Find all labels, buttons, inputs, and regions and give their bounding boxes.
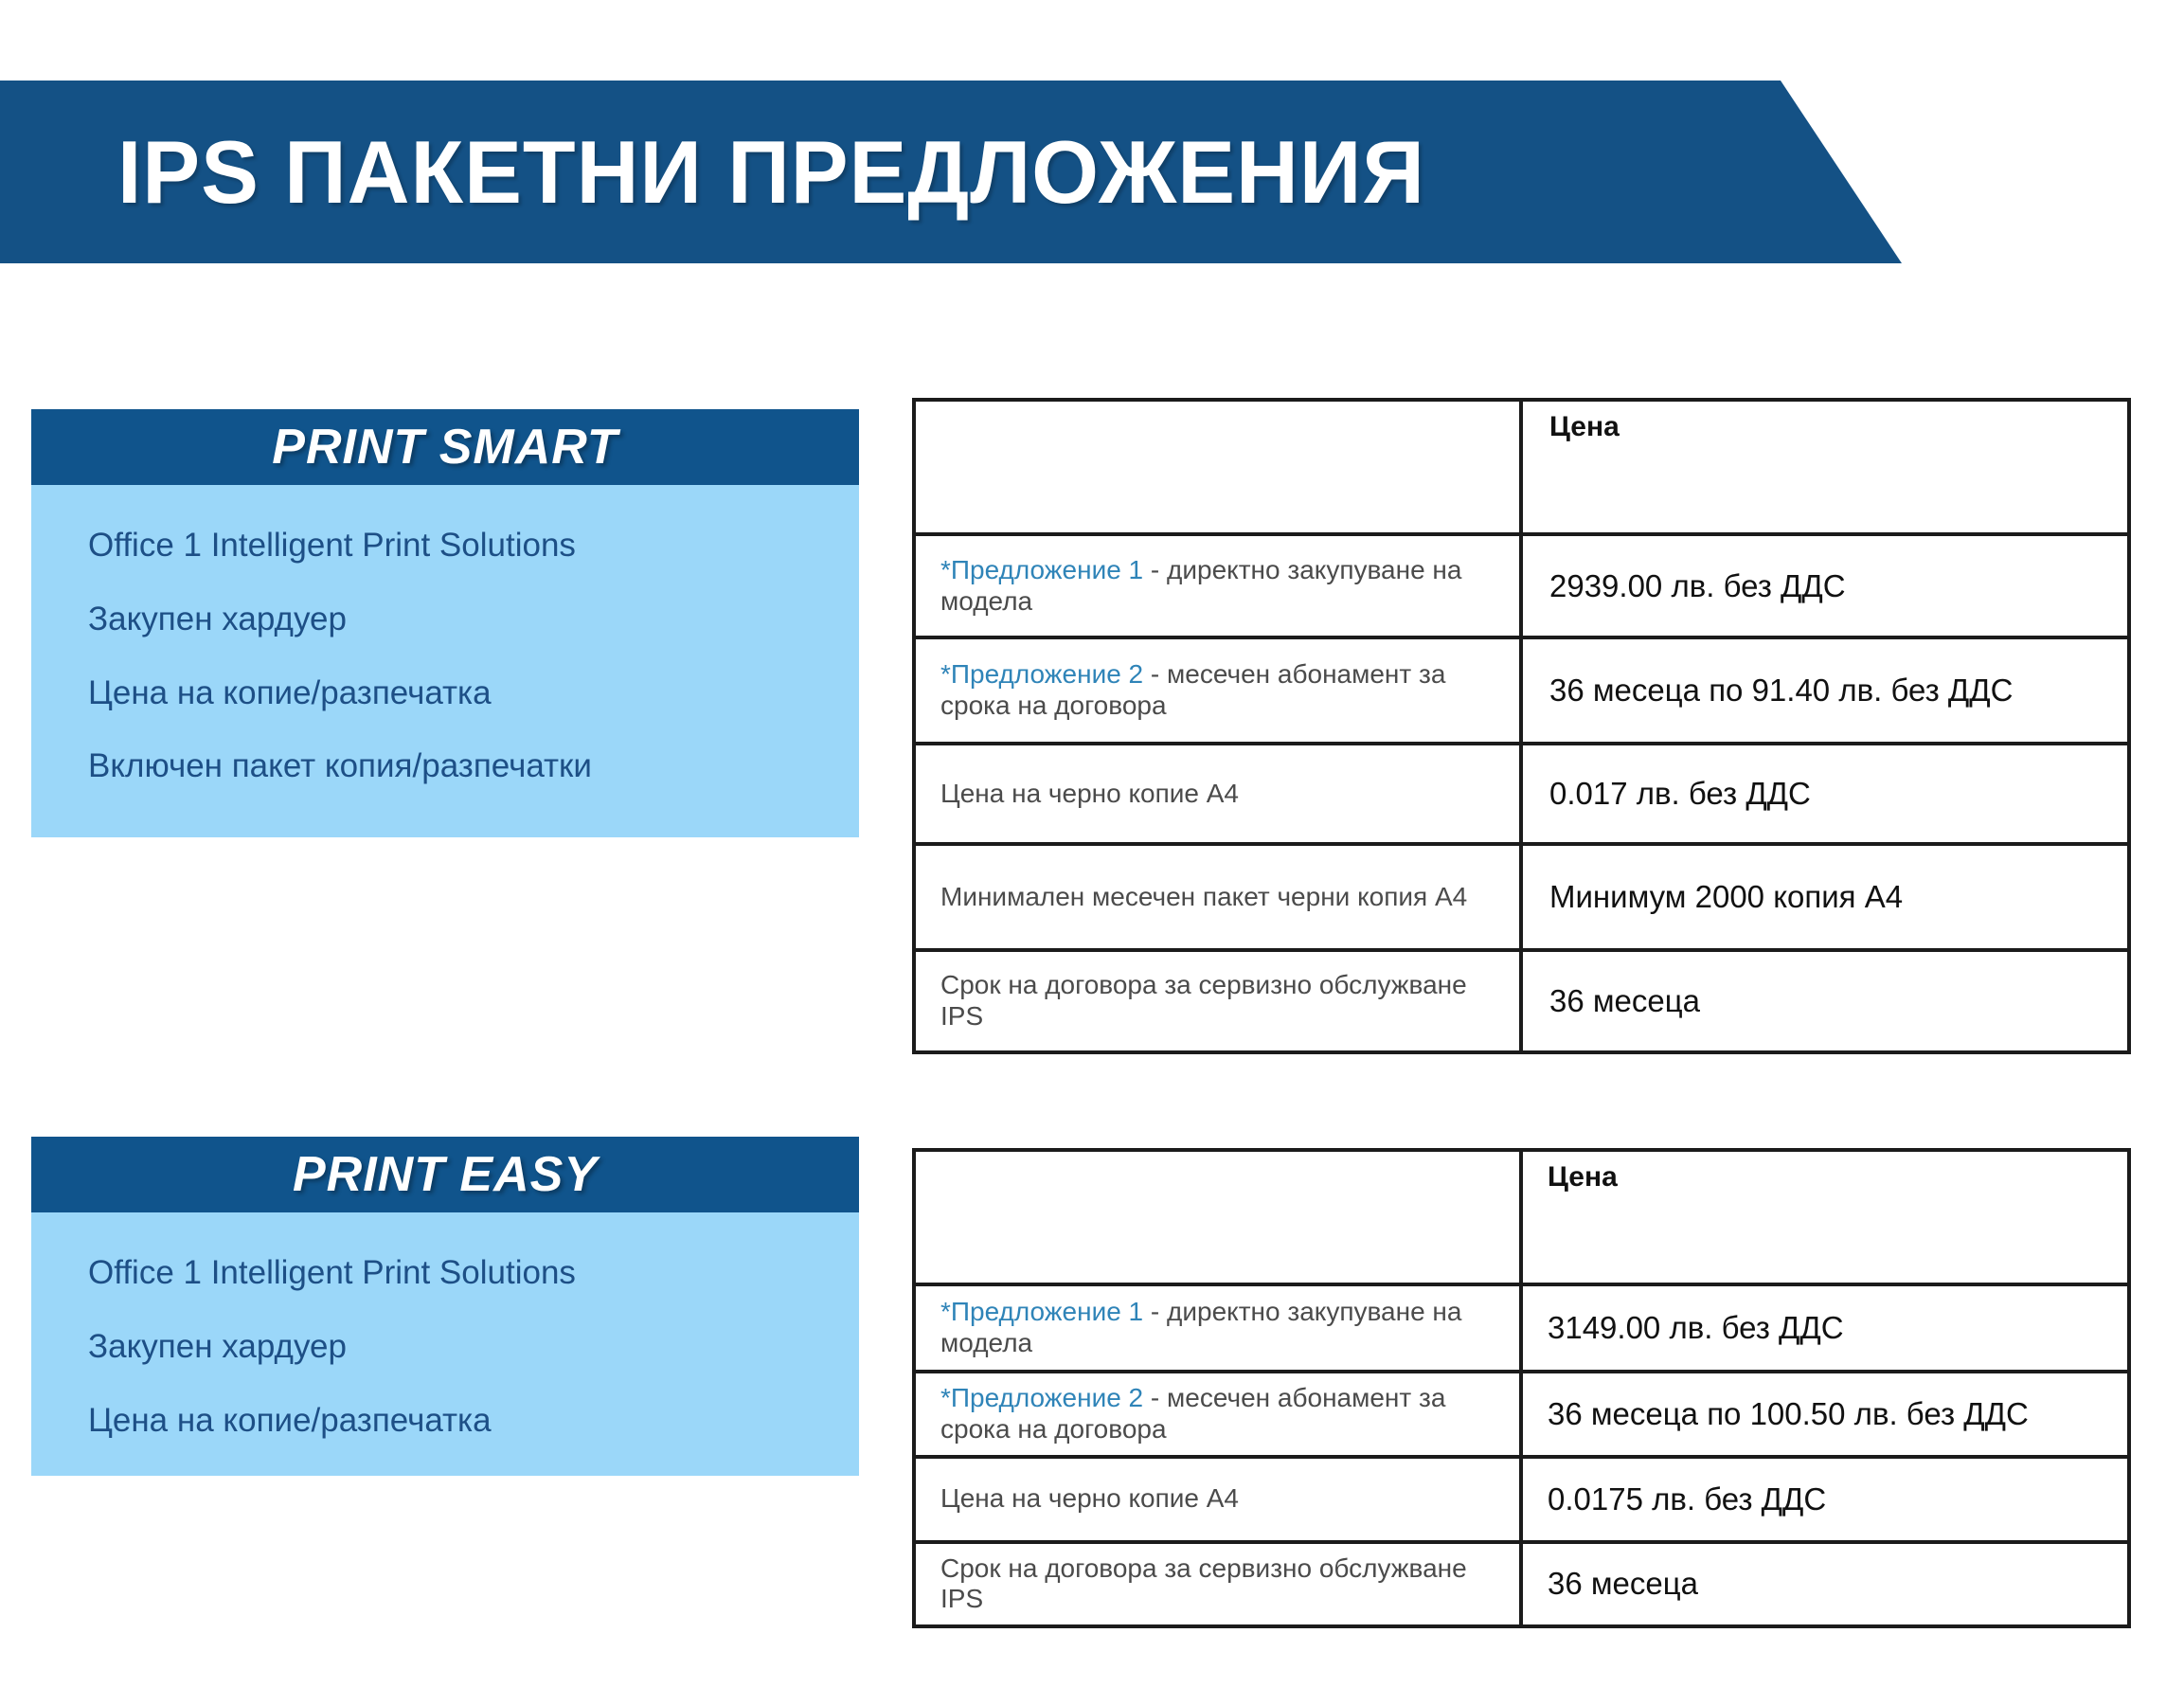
- table-cell-label: Цена на черно копие А4: [914, 1457, 1521, 1542]
- package-card-print-easy: PRINT EASY Office 1 Intelligent Print So…: [31, 1137, 859, 1476]
- spec-label: Цена на черно копие А4: [916, 1474, 1519, 1524]
- spec-table-print-easy: Цена *Предложение 1 - директно закупуван…: [912, 1148, 2131, 1628]
- spec-label: *Предложение 2 - месечен абонамент за ср…: [916, 1373, 1519, 1455]
- table-cell-label: *Предложение 2 - месечен абонамент за ср…: [914, 637, 1521, 744]
- table-cell-price: 2939.00 лв. без ДДС: [1521, 534, 2129, 637]
- table-header-row: Цена: [914, 400, 2129, 534]
- table-row: *Предложение 2 - месечен абонамент за ср…: [914, 1372, 2129, 1457]
- spec-label-rest: Срок на договора за сервизно обслужване …: [940, 1553, 1467, 1614]
- table-row: *Предложение 2 - месечен абонамент за ср…: [914, 637, 2129, 744]
- table-header-cell-price: Цена: [1521, 400, 2129, 534]
- spec-price: Минимум 2000 копия А4: [1523, 870, 2127, 924]
- spec-table-print-smart: Цена *Предложение 1 - директно закупуван…: [912, 398, 2131, 1054]
- spec-label: Срок на договора за сервизно обслужване …: [916, 960, 1519, 1042]
- list-item: Цена на копие/разпечатка: [31, 1404, 859, 1439]
- package-card-print-smart: PRINT SMART Office 1 Intelligent Print S…: [31, 409, 859, 837]
- table-header-cell-blank: [914, 1150, 1521, 1284]
- spec-price: 2939.00 лв. без ДДС: [1523, 559, 2127, 614]
- table-cell-label: Срок на договора за сервизно обслужване …: [914, 950, 1521, 1052]
- spec-label-rest: Минимален месечен пакет черни копия А4: [940, 882, 1467, 911]
- spec-price: 0.0175 лв. без ДДС: [1523, 1472, 2127, 1527]
- table-cell-price: 0.0175 лв. без ДДС: [1521, 1457, 2129, 1542]
- spec-price: 0.017 лв. без ДДС: [1523, 766, 2127, 821]
- table-cell-label: *Предложение 1 - директно закупуване на …: [914, 1284, 1521, 1372]
- table-cell-price: 36 месеца по 91.40 лв. без ДДС: [1521, 637, 2129, 744]
- table-cell-price: 36 месеца по 100.50 лв. без ДДС: [1521, 1372, 2129, 1457]
- table-row: Минимален месечен пакет черни копия А4 М…: [914, 844, 2129, 950]
- table-header-cell-price: Цена: [1521, 1150, 2129, 1284]
- table-header-row: Цена: [914, 1150, 2129, 1284]
- table-header-label: [916, 1208, 1519, 1227]
- spec-label-rest: Цена на черно копие А4: [940, 779, 1239, 808]
- spec-label: Срок на договора за сервизно обслужване …: [916, 1544, 1519, 1625]
- spec-label-highlight: *Предложение 2: [940, 659, 1143, 689]
- table-cell-price: 3149.00 лв. без ДДС: [1521, 1284, 2129, 1372]
- table-row: *Предложение 1 - директно закупуване на …: [914, 534, 2129, 637]
- table-cell-label: *Предложение 1 - директно закупуване на …: [914, 534, 1521, 637]
- list-item: Закупен хардуер: [31, 602, 859, 637]
- spec-label: Цена на черно копие А4: [916, 769, 1519, 819]
- spec-label-highlight: *Предложение 2: [940, 1383, 1143, 1412]
- list-item: Закупен хардуер: [31, 1330, 859, 1365]
- table-row: Срок на договора за сервизно обслужване …: [914, 1542, 2129, 1627]
- table-cell-label: Минимален месечен пакет черни копия А4: [914, 844, 1521, 950]
- spec-price: 3149.00 лв. без ДДС: [1523, 1301, 2127, 1355]
- spec-label-rest: Срок на договора за сервизно обслужване …: [940, 970, 1467, 1031]
- spec-label-highlight: *Предложение 1: [940, 1297, 1143, 1326]
- spec-label: *Предложение 1 - директно закупуване на …: [916, 1287, 1519, 1369]
- spec-label-rest: Цена на черно копие А4: [940, 1483, 1239, 1513]
- package-card-header-print-easy: PRINT EASY: [31, 1137, 859, 1212]
- table-header-price: Цена: [1523, 1152, 2127, 1283]
- table-row: *Предложение 1 - директно закупуване на …: [914, 1284, 2129, 1372]
- spec-label-highlight: *Предложение 1: [940, 555, 1143, 584]
- table-cell-price: Минимум 2000 копия А4: [1521, 844, 2129, 950]
- package-card-header-print-smart: PRINT SMART: [31, 409, 859, 485]
- table-row: Срок на договора за сервизно обслужване …: [914, 950, 2129, 1052]
- list-item: Включен пакет копия/разпечатки: [31, 749, 859, 784]
- package-feature-list-print-easy: Office 1 Intelligent Print Solutions Зак…: [31, 1212, 859, 1476]
- table-header-price: Цена: [1523, 402, 2127, 532]
- list-item: Цена на копие/разпечатка: [31, 676, 859, 711]
- table-cell-label: Срок на договора за сервизно обслужване …: [914, 1542, 1521, 1627]
- table-row: Цена на черно копие А4 0.017 лв. без ДДС: [914, 744, 2129, 844]
- table-cell-price: 0.017 лв. без ДДС: [1521, 744, 2129, 844]
- table-cell-price: 36 месеца: [1521, 1542, 2129, 1627]
- page-title: IPS ПАКЕТНИ ПРЕДЛОЖЕНИЯ: [117, 128, 1425, 217]
- list-item: Office 1 Intelligent Print Solutions: [31, 529, 859, 564]
- table-header-label: [916, 458, 1519, 476]
- spec-price: 36 месеца: [1523, 1556, 2127, 1611]
- spec-price: 36 месеца по 91.40 лв. без ДДС: [1523, 663, 2127, 718]
- spec-label: *Предложение 1 - директно закупуване на …: [916, 546, 1519, 627]
- table-cell-price: 36 месеца: [1521, 950, 2129, 1052]
- package-title-print-smart: PRINT SMART: [272, 422, 618, 472]
- table-cell-label: *Предложение 2 - месечен абонамент за ср…: [914, 1372, 1521, 1457]
- package-feature-list-print-smart: Office 1 Intelligent Print Solutions Зак…: [31, 485, 859, 837]
- spec-price: 36 месеца: [1523, 974, 2127, 1029]
- package-title-print-easy: PRINT EASY: [293, 1150, 598, 1199]
- page-title-banner: IPS ПАКЕТНИ ПРЕДЛОЖЕНИЯ: [0, 81, 1904, 263]
- spec-label: Минимален месечен пакет черни копия А4: [916, 872, 1519, 923]
- table-cell-label: Цена на черно копие А4: [914, 744, 1521, 844]
- spec-label: *Предложение 2 - месечен абонамент за ср…: [916, 650, 1519, 731]
- table-header-cell-blank: [914, 400, 1521, 534]
- spec-price: 36 месеца по 100.50 лв. без ДДС: [1523, 1387, 2127, 1442]
- table-row: Цена на черно копие А4 0.0175 лв. без ДД…: [914, 1457, 2129, 1542]
- list-item: Office 1 Intelligent Print Solutions: [31, 1256, 859, 1291]
